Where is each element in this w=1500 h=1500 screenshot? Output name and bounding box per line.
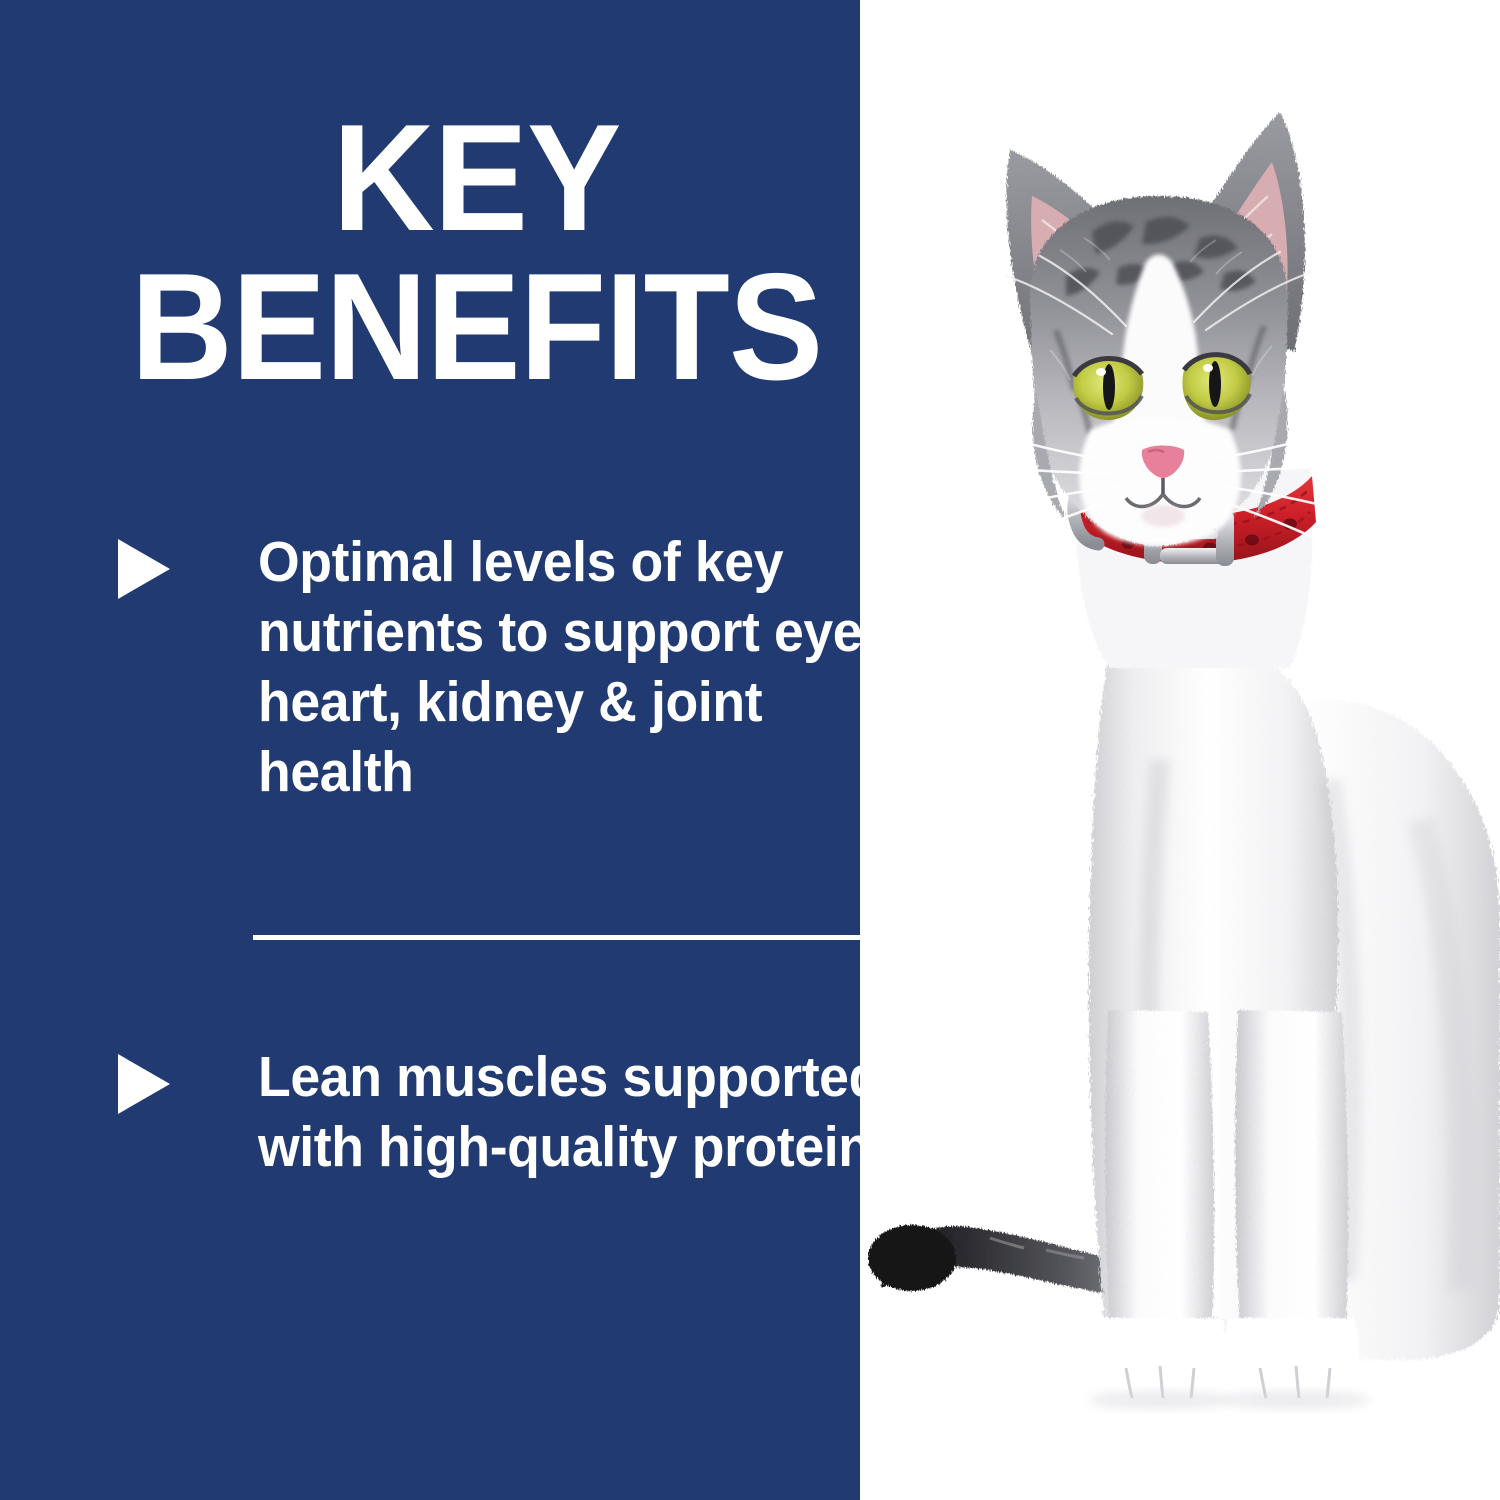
page-title-line-2: BENEFITS (33, 253, 919, 402)
benefit-item-1: Optimal levels of key nutrients to suppo… (118, 527, 938, 807)
triangle-bullet-icon (118, 1054, 170, 1114)
key-benefits-banner: KEY BENEFITS Optimal levels of key nutri… (0, 0, 1500, 1500)
page-title-line-1: KEY (33, 104, 919, 253)
page-title: KEY BENEFITS (33, 104, 919, 402)
benefit-item-1-text: Optimal levels of key nutrients to suppo… (258, 527, 897, 807)
benefit-item-2-text: Lean muscles supported with high-quality… (258, 1042, 897, 1182)
benefit-item-2: Lean muscles supported with high-quality… (118, 1042, 938, 1182)
cat-photo (860, 0, 1500, 1500)
benefit-divider (253, 935, 866, 940)
triangle-bullet-icon (118, 539, 170, 599)
